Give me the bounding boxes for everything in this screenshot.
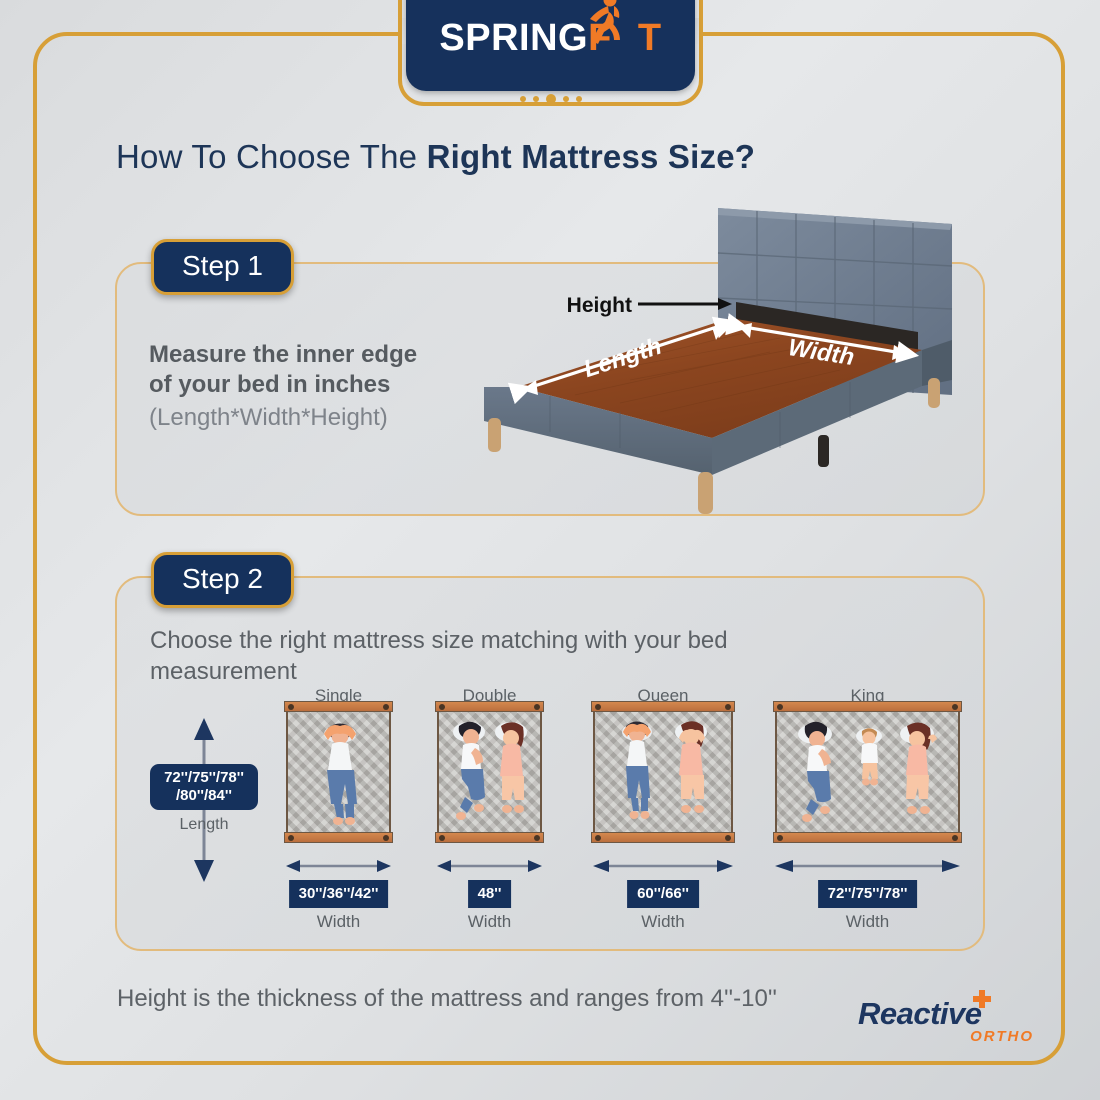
mattress-bottom-bar (773, 832, 962, 843)
divider-dot (533, 96, 539, 102)
mattress-top-bar (284, 701, 393, 712)
page-title-regular: How To Choose The (116, 138, 427, 175)
divider-dot (520, 96, 526, 102)
bar-knob-icon (288, 704, 294, 710)
step-1-line-1: Measure the inner edge (149, 340, 479, 370)
width-value-badge-double: 48'' (468, 880, 512, 908)
bed-diagram: Length Width Height (480, 190, 980, 535)
step-1-badge: Step 1 (151, 239, 294, 295)
length-axis: 72''/75''/78'' /80''/84'' Length (150, 708, 260, 908)
length-axis-label: Length (150, 816, 258, 834)
sleeper-figures-king (777, 712, 958, 832)
width-label-queen: Width (593, 912, 733, 932)
width-value-badge-queen: 60''/66'' (627, 880, 699, 908)
medical-cross-icon (970, 988, 994, 1012)
width-label-king: Width (775, 912, 960, 932)
mattress-top-bar (591, 701, 735, 712)
length-value-line-2: /80''/84'' (152, 787, 256, 805)
width-label-double: Width (437, 912, 542, 932)
bar-knob-icon (595, 835, 601, 841)
divider-dot (563, 96, 569, 102)
bar-knob-icon (952, 704, 958, 710)
width-arrow-icon-single (286, 858, 391, 874)
mattress-surface (439, 712, 540, 832)
reactive-wordmark: Reactive (858, 996, 982, 1032)
logo-wordmark: SPRINGFT (439, 17, 661, 60)
sleeper-figures-queen (595, 712, 731, 832)
logo-dot-divider (398, 92, 703, 106)
divider-dot (576, 96, 582, 102)
page-title: How To Choose The Right Mattress Size? (116, 138, 976, 176)
width-label-single: Width (286, 912, 391, 932)
bar-knob-icon (439, 704, 445, 710)
bar-knob-icon (725, 835, 731, 841)
bar-knob-icon (288, 835, 294, 841)
bar-knob-icon (952, 835, 958, 841)
bed-height-label: Height (567, 294, 632, 317)
logo-spring-text: SPRING (439, 17, 588, 60)
step-1-line-2: of your bed in inches (149, 370, 479, 400)
mattress-bottom-bar (284, 832, 393, 843)
mattress-queen (593, 710, 733, 834)
mattress-single (286, 710, 391, 834)
mattress-king (775, 710, 960, 834)
sleeper-figures-double (439, 712, 540, 832)
step-1-formula: (Length*Width*Height) (149, 402, 479, 433)
bar-knob-icon (534, 704, 540, 710)
bar-knob-icon (439, 835, 445, 841)
bed-height-callout: Height (567, 294, 732, 317)
reactive-ortho-logo: Reactive ORTHO (858, 992, 1038, 1048)
jumping-figure-icon (584, 0, 624, 48)
mattress-bottom-bar (435, 832, 544, 843)
width-arrow-icon-king (775, 858, 960, 874)
logo-navy-plate: SPRINGFT (406, 0, 695, 91)
brand-logo: SPRINGFT (398, 4, 703, 110)
mattress-surface (777, 712, 958, 832)
step-1-instructions: Measure the inner edge of your bed in in… (149, 340, 479, 433)
divider-dot-center (546, 94, 556, 104)
mattress-surface (288, 712, 389, 832)
length-value-line-1: 72''/75''/78'' (152, 769, 256, 787)
mattress-bottom-bar (591, 832, 735, 843)
width-arrow-icon-double (437, 858, 542, 874)
mattress-surface (595, 712, 731, 832)
bar-knob-icon (534, 835, 540, 841)
logo-t-text: T (638, 17, 662, 60)
mattress-double (437, 710, 542, 834)
bar-knob-icon (383, 835, 389, 841)
bar-knob-icon (595, 704, 601, 710)
width-value-badge-single: 30''/36''/42'' (289, 880, 389, 908)
mattress-top-bar (435, 701, 544, 712)
step-2-badge: Step 2 (151, 552, 294, 608)
mattress-size-comparison: 72''/75''/78'' /80''/84'' Length Single (150, 690, 980, 940)
sleeper-figure-single (288, 712, 389, 832)
bar-knob-icon (383, 704, 389, 710)
page-title-bold: Right Mattress Size? (427, 138, 756, 175)
width-arrow-icon-queen (593, 858, 733, 874)
reactive-ortho-subtext: ORTHO (970, 1028, 1034, 1045)
mattress-top-bar (773, 701, 962, 712)
footer-note: Height is the thickness of the mattress … (117, 985, 777, 1013)
width-value-badge-king: 72''/75''/78'' (818, 880, 918, 908)
length-value-badge: 72''/75''/78'' /80''/84'' (150, 764, 258, 810)
bar-knob-icon (777, 704, 783, 710)
bar-knob-icon (777, 835, 783, 841)
step-2-instructions: Choose the right mattress size matching … (150, 625, 870, 687)
bar-knob-icon (725, 704, 731, 710)
